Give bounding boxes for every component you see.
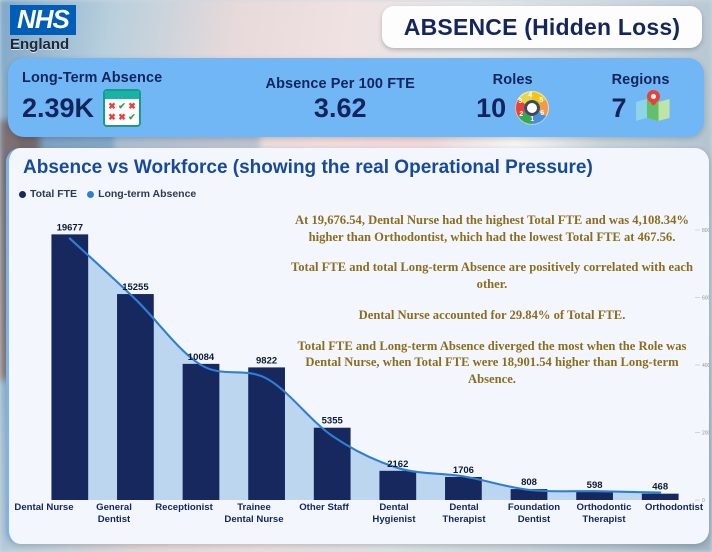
x-axis-category: Receptionist [149,500,219,544]
bar-value-label: 1706 [453,465,474,476]
kpi-label: Roles [493,72,533,88]
kpi-long-term-absence[interactable]: Long-Term Absence 2.39K ✖✔✖ ✖✖✔ [8,58,232,137]
chart-bar [445,477,482,500]
chart-bar [379,471,416,500]
insight-note: At 19,676.54, Dental Nurse had the highe… [287,212,697,245]
kpi-label: Regions [612,72,670,88]
calendar-icon: ✖✔✖ ✖✖✔ [103,89,141,127]
legend-label: Total FTE [30,188,77,200]
roles-wheel-icon: 4 5 6 1 2 3 [515,91,549,125]
x-axis-category: DentalHygienist [359,500,429,544]
bar-value-label: 9822 [256,355,277,366]
x-axis-category: TraineeDental Nurse [219,500,289,544]
legend-swatch [87,191,94,198]
chart-card: Absence vs Workforce (showing the real O… [6,148,709,544]
legend-item-total-fte[interactable]: Total FTE [19,188,77,200]
bar-value-label: 598 [587,480,603,491]
nhs-logo-mark: NHS [10,5,76,35]
chart-bar [51,234,88,500]
chart-insight-notes: At 19,676.54, Dental Nurse had the highe… [287,212,697,402]
bar-value-label: 5355 [322,416,344,427]
bar-value-label: 19677 [57,222,83,233]
chart-bar [576,492,613,500]
insight-note: Dental Nurse accounted for 29.84% of Tot… [287,307,697,324]
chart-x-axis: Dental NurseGeneralDentistReceptionistTr… [9,500,709,544]
nhs-logo-subtitle: England [10,36,76,53]
x-axis-category: GeneralDentist [79,500,149,544]
insight-note: Total FTE and total Long-term Absence ar… [287,259,697,292]
bar-value-label: 468 [652,482,668,493]
kpi-label: Absence Per 100 FTE [266,76,415,92]
legend-label: Long-term Absence [98,188,196,200]
svg-text:200: 200 [702,431,709,437]
x-axis-category: Dental Nurse [9,500,79,544]
kpi-value: 3.62 [314,95,367,122]
kpi-regions[interactable]: Regions 7 [577,58,704,137]
legend-swatch [19,191,26,198]
dashboard-title-pill: ABSENCE (Hidden Loss) [382,6,702,48]
insight-note: Total FTE and Long-term Absence diverged… [287,338,697,388]
kpi-value: 7 [612,95,627,122]
kpi-value: 10 [476,95,506,122]
kpi-band: Long-Term Absence 2.39K ✖✔✖ ✖✖✔ Absence … [8,58,704,137]
chart-bar [183,364,220,500]
nhs-logo: NHS England [10,5,76,53]
kpi-absence-per-100-fte[interactable]: Absence Per 100 FTE 3.62 [232,58,448,137]
page-title: ABSENCE (Hidden Loss) [404,14,680,41]
chart-legend: Total FTE Long-term Absence [19,188,196,200]
bar-value-label: 808 [521,477,537,488]
svg-text:400: 400 [702,363,709,369]
x-axis-category: Orthodontist [639,500,709,544]
chart-title: Absence vs Workforce (showing the real O… [23,157,593,179]
x-axis-category: OrthodonticTherapist [569,500,639,544]
bar-value-label: 10084 [188,352,215,363]
svg-text:800: 800 [702,228,709,234]
chart-bar [117,294,154,500]
kpi-label: Long-Term Absence [22,70,162,86]
bar-value-label: 15255 [122,282,149,293]
legend-item-long-term-absence[interactable]: Long-term Absence [87,188,196,200]
kpi-roles[interactable]: Roles 10 4 5 6 1 2 3 [448,58,577,137]
chart-bar [314,428,351,500]
x-axis-category: DentalTherapist [429,500,499,544]
x-axis-category: Other Staff [289,500,359,544]
x-axis-category: FoundationDentist [499,500,569,544]
kpi-value: 2.39K [22,95,94,122]
bar-value-label: 2162 [387,459,408,470]
svg-text:600: 600 [702,296,709,302]
map-pin-icon [636,91,670,125]
